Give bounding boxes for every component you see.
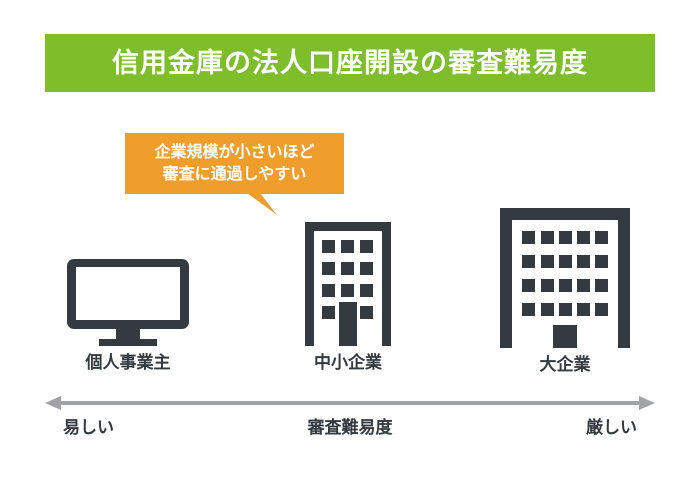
callout-tail-icon (247, 193, 277, 215)
medium-building-icon (305, 222, 391, 346)
large-building-icon (500, 208, 630, 348)
scale-label-strict: 厳しい (586, 415, 637, 441)
difficulty-scale-arrow-icon (45, 396, 655, 410)
category-column-sole-proprietor: 個人事業主 (48, 258, 208, 371)
category-label: 大企業 (540, 356, 591, 373)
title-banner: 信用金庫の法人口座開設の審査難易度 (45, 34, 655, 92)
page-title: 信用金庫の法人口座開設の審査難易度 (112, 50, 588, 77)
category-column-large-enterprise: 大企業 (485, 208, 645, 373)
callout-line-1: 企業規模が小さいほど (154, 142, 314, 163)
category-label: 個人事業主 (86, 354, 171, 371)
infographic-canvas: 信用金庫の法人口座開設の審査難易度 企業規模が小さいほど 審査に通過しやすい 個… (0, 0, 700, 478)
category-column-sme: 中小企業 (268, 222, 428, 371)
difficulty-scale-labels: 易しい 審査難易度 厳しい (45, 415, 655, 441)
desktop-monitor-icon (66, 258, 190, 346)
category-label: 中小企業 (314, 354, 382, 371)
callout-bubble: 企業規模が小さいほど 審査に通過しやすい (125, 133, 344, 194)
callout-line-2: 審査に通過しやすい (163, 164, 307, 185)
scale-label-axis: 審査難易度 (45, 415, 655, 441)
